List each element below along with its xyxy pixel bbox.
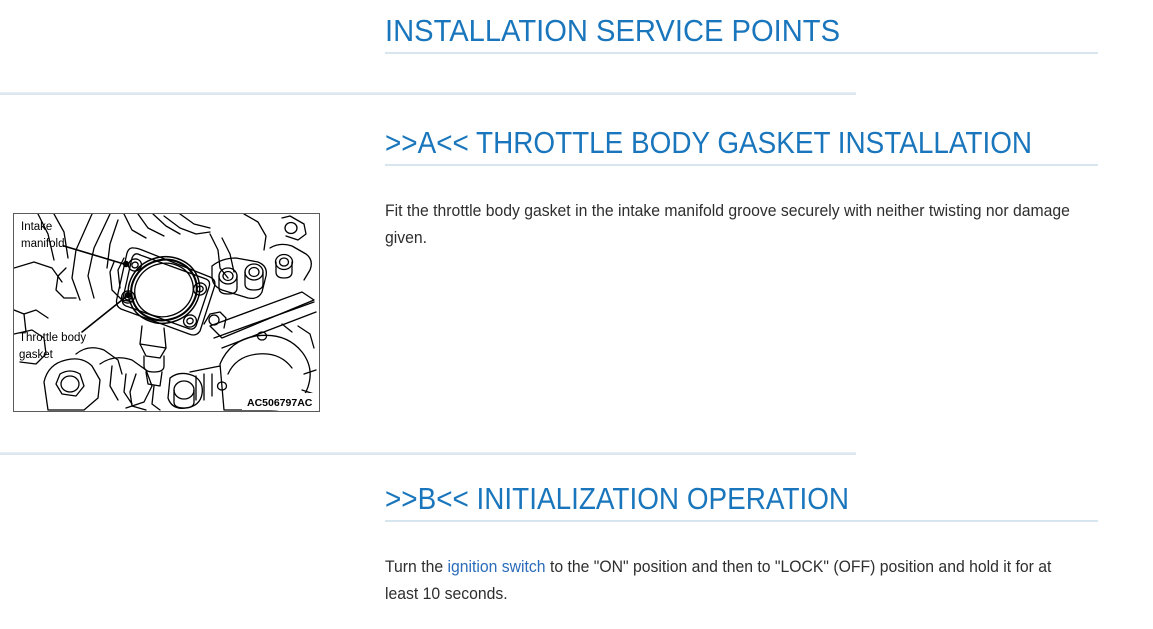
section-divider-bottom — [0, 452, 856, 455]
throttle-body-gasket-illustration: Intake manifold Throttle body gasket AC5… — [13, 213, 320, 412]
section-b-heading-underline — [385, 520, 1098, 522]
section-b-heading: >>B<< INITIALIZATION OPERATION — [385, 480, 1027, 518]
figure-reference-code: AC506797AC — [247, 397, 313, 409]
callout-throttle-body-gasket-line1: Throttle body — [19, 332, 86, 344]
callout-throttle-body-gasket-line2: gasket — [19, 349, 54, 361]
section-b-paragraph: Turn the ignition switch to the "ON" pos… — [385, 554, 1078, 608]
ignition-switch-link[interactable]: ignition switch — [447, 558, 545, 576]
callout-intake-manifold-line1: Intake — [21, 221, 52, 233]
service-manual-page: INSTALLATION SERVICE POINTS >>A<< THROTT… — [0, 0, 1153, 629]
callout-leader-lines — [64, 246, 127, 332]
section-a-heading-block: >>A<< THROTTLE BODY GASKET INSTALLATION — [385, 124, 1104, 166]
section-a-paragraph: Fit the throttle body gasket in the inta… — [385, 198, 1078, 252]
illustration-svg: Intake manifold Throttle body gasket AC5… — [14, 214, 319, 411]
section-b-text-before-link: Turn the — [385, 558, 447, 576]
page-title-underline — [385, 52, 1098, 54]
page-title-block: INSTALLATION SERVICE POINTS — [385, 12, 1098, 54]
callout-dot-throttle-body-gasket — [125, 292, 131, 298]
section-a-heading-underline — [385, 164, 1098, 166]
section-a-heading: >>A<< THROTTLE BODY GASKET INSTALLATION — [385, 124, 1032, 162]
section-b-heading-block: >>B<< INITIALIZATION OPERATION — [385, 480, 1098, 522]
callout-dot-intake-manifold — [123, 261, 129, 267]
section-divider-top — [0, 92, 856, 95]
callout-intake-manifold-line2: manifold — [21, 238, 64, 250]
page-title: INSTALLATION SERVICE POINTS — [385, 12, 1055, 50]
